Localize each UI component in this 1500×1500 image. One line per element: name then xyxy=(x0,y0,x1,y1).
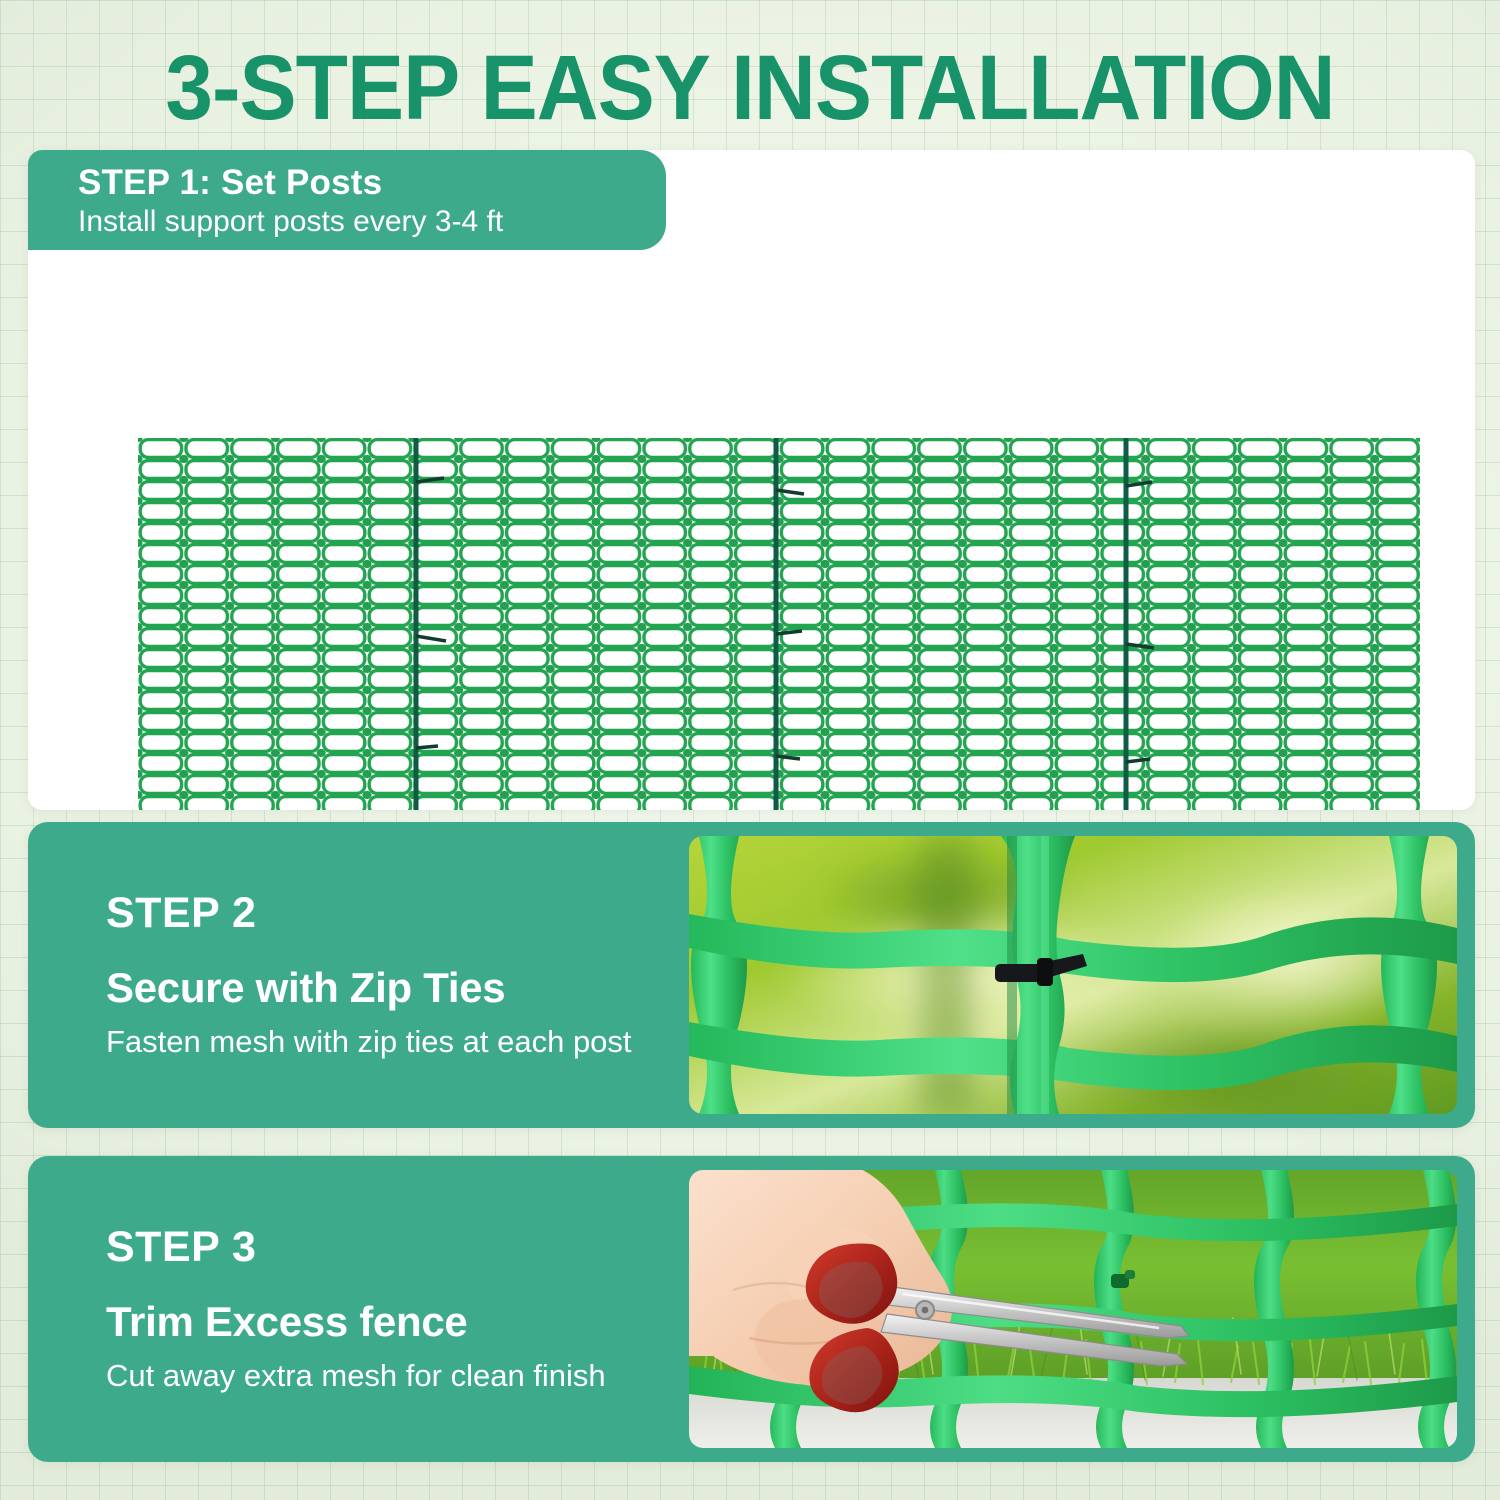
step1-heading: STEP 1: Set Posts xyxy=(78,163,666,203)
step2-photo xyxy=(689,836,1457,1114)
step1-banner: STEP 1: Set Posts Install support posts … xyxy=(28,150,666,250)
step3-text-block: STEP 3 Trim Excess fence Cut away extra … xyxy=(106,1156,706,1462)
step3-number: STEP 3 xyxy=(106,1224,706,1271)
step1-subheading: Install support posts every 3-4 ft xyxy=(78,205,666,240)
step3-photo xyxy=(689,1170,1457,1448)
step2-number: STEP 2 xyxy=(106,890,706,937)
mesh-fence-diagram xyxy=(138,438,1420,810)
step2-description: Fasten mesh with zip ties at each post xyxy=(106,1023,706,1060)
step2-photo-svg xyxy=(689,836,1457,1114)
step2-text-block: STEP 2 Secure with Zip Ties Fasten mesh … xyxy=(106,822,706,1128)
step2-heading: Secure with Zip Ties xyxy=(106,964,706,1011)
step3-description: Cut away extra mesh for clean finish xyxy=(106,1357,706,1394)
step2-panel: STEP 2 Secure with Zip Ties Fasten mesh … xyxy=(28,822,1475,1128)
mesh-fence-svg xyxy=(138,438,1420,810)
infographic-page: 3-STEP EASY INSTALLATION xyxy=(0,0,1500,1500)
step3-panel: STEP 3 Trim Excess fence Cut away extra … xyxy=(28,1156,1475,1462)
step3-photo-svg xyxy=(689,1170,1457,1448)
page-title: 3-STEP EASY INSTALLATION xyxy=(53,40,1448,137)
mesh-grid xyxy=(138,438,1420,810)
step3-heading: Trim Excess fence xyxy=(106,1298,706,1345)
